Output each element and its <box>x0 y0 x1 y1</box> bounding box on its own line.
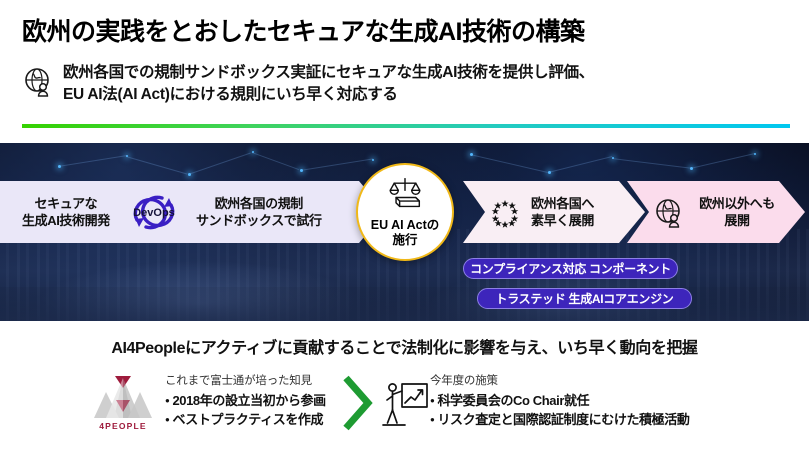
left-text-block: これまで富士通が培った知見 2018年の設立当初から参画 ベストプラクティスを作… <box>165 370 326 430</box>
badge-trusted-ai-engine: トラステッド 生成AIコアエンジン <box>477 288 692 309</box>
flow-step-global-rollout-label: 欧州以外へも 展開 <box>691 195 783 229</box>
right-text-block: 今年度の施策 科学委員会のCo Chair就任 リスク査定と国際認証制度にむけた… <box>430 370 689 430</box>
subtitle-row: 欧州各国での規制サンドボックス実証にセキュアな生成AI技術を提供し評価、 EU … <box>22 62 594 107</box>
scales-of-justice-book-icon <box>385 176 425 215</box>
flow-step-secure-dev: セキュアな 生成AI技術開発 <box>22 181 110 243</box>
ai4people-logo: 4PEOPLE <box>92 370 154 432</box>
flow-step-sandbox-label: 欧州各国の規制 サンドボックスで試行 <box>196 195 322 229</box>
bottom-column-right: 今年度の施策 科学委員会のCo Chair就任 リスク査定と国際認証制度にむけた… <box>430 370 689 430</box>
eu-ai-act-line-2: 施行 <box>392 233 417 247</box>
right-column-heading: 今年度の施策 <box>430 372 689 388</box>
flow-step-secure-dev-label: セキュアな 生成AI技術開発 <box>22 195 110 229</box>
eu-ai-act-badge: EU AI Actの 施行 <box>356 163 454 261</box>
subtitle-line-2: EU AI法(AI Act)における規則にいち早く対応する <box>63 86 398 103</box>
eu-rollout-line-2: 素早く展開 <box>531 213 594 228</box>
subtitle-text: 欧州各国での規制サンドボックス実証にセキュアな生成AI技術を提供し評価、 EU … <box>63 62 594 107</box>
svg-text:DevOps: DevOps <box>133 207 175 219</box>
presenter-chart-icon <box>381 378 429 430</box>
secure-dev-line-1: セキュアな <box>35 196 98 211</box>
badge-compliance-component: コンプライアンス対応 コンポーネント <box>463 258 678 279</box>
left-bullet-2: ベストプラクティスを作成 <box>165 411 326 430</box>
green-chevron-icon <box>340 374 374 432</box>
flow-step-sandbox: 欧州各国の規制 サンドボックスで試行 <box>196 181 322 243</box>
page-title: 欧州の実践をとおしたセキュアな生成AI技術の構築 <box>22 12 585 48</box>
global-rollout-line-2: 展開 <box>724 213 749 228</box>
subtitle-line-1: 欧州各国での規制サンドボックス実証にセキュアな生成AI技術を提供し評価、 <box>63 64 594 81</box>
flow-arrow-development: セキュアな 生成AI技術開発 DevOps 欧州各国の規制 サンドボックスで試行 <box>0 181 385 243</box>
right-bullet-2: リスク査定と国際認証制度にむけた積極活動 <box>430 411 689 430</box>
globe-person-icon <box>653 197 685 229</box>
svg-text:4PEOPLE: 4PEOPLE <box>99 421 147 431</box>
globe-person-icon <box>22 66 54 98</box>
eu-rollout-line-1: 欧州各国へ <box>531 196 594 211</box>
header-divider <box>22 124 790 128</box>
sandbox-line-2: サンドボックスで試行 <box>196 213 322 228</box>
bottom-column-left: 4PEOPLE これまで富士通が培った知見 2018年の設立当初から参画 ベスト… <box>92 370 326 432</box>
flow-step-eu-rollout-label: 欧州各国へ 素早く展開 <box>531 195 594 229</box>
slide-root: 欧州の実践をとおしたセキュアな生成AI技術の構築 欧州各国での規制サンドボックス… <box>0 0 809 455</box>
bottom-columns: 4PEOPLE これまで富士通が培った知見 2018年の設立当初から参画 ベスト… <box>0 368 809 448</box>
right-bullet-1: 科学委員会のCo Chair就任 <box>430 392 689 411</box>
devops-icon: DevOps <box>124 192 184 232</box>
sandbox-line-1: 欧州各国の規制 <box>215 196 303 211</box>
global-rollout-line-1: 欧州以外へも <box>699 196 775 211</box>
bottom-heading: AI4Peopleにアクティブに貢献することで法制化に影響を与え、いち早く動向を… <box>0 334 809 358</box>
eu-stars-icon <box>489 197 521 229</box>
eu-ai-act-line-1: EU AI Actの <box>371 218 440 232</box>
secure-dev-line-2: 生成AI技術開発 <box>22 213 110 228</box>
eu-ai-act-badge-label: EU AI Actの 施行 <box>371 218 440 248</box>
left-column-heading: これまで富士通が培った知見 <box>165 372 326 388</box>
left-bullet-1: 2018年の設立当初から参画 <box>165 392 326 411</box>
flow-arrow-global-rollout: 欧州以外へも 展開 <box>627 181 805 243</box>
flow-arrow-eu-rollout: 欧州各国へ 素早く展開 <box>463 181 645 243</box>
